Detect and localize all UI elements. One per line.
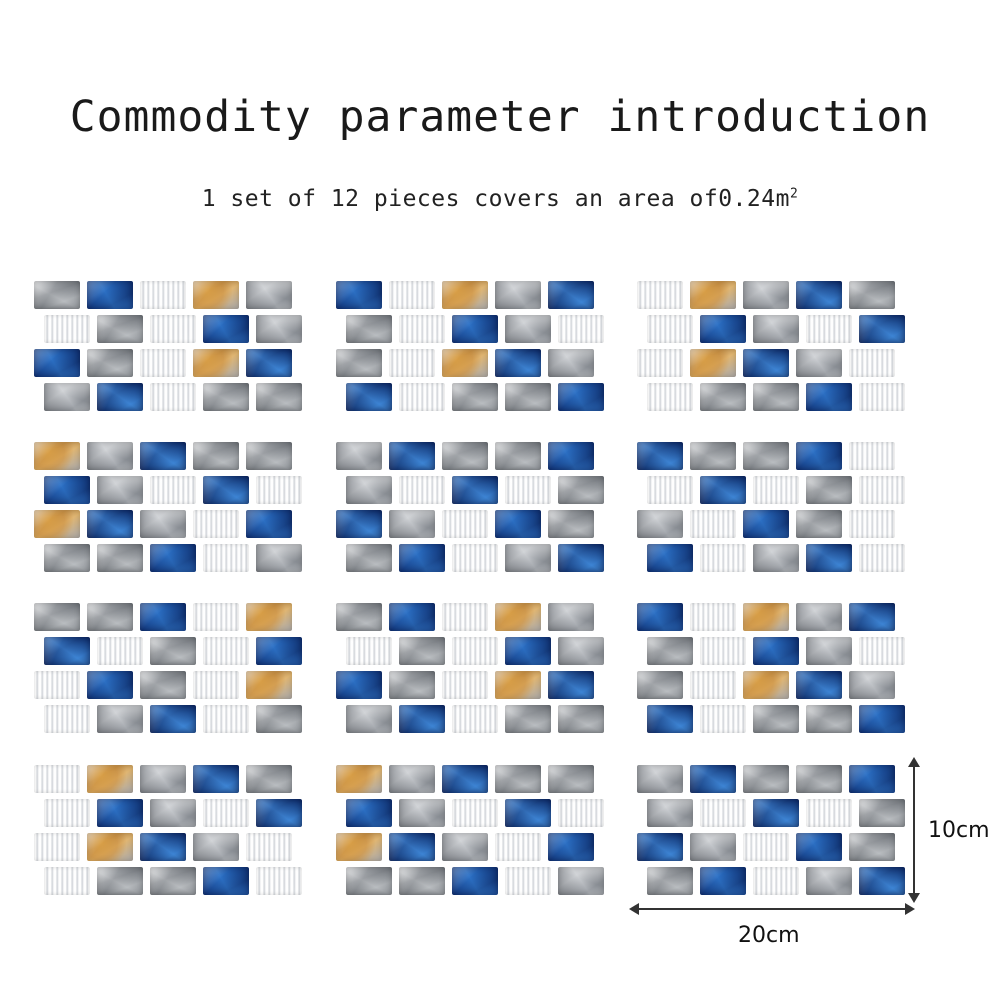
mosaic-tile <box>753 544 799 572</box>
mosaic-tile <box>203 544 249 572</box>
tile-sheet <box>336 281 596 411</box>
mosaic-tile <box>647 799 693 827</box>
mosaic-tile <box>246 671 292 699</box>
mosaic-tile <box>690 510 736 538</box>
mosaic-tile <box>34 510 80 538</box>
mosaic-tile <box>399 867 445 895</box>
mosaic-tile <box>548 442 594 470</box>
mosaic-tile <box>690 603 736 631</box>
width-arrow-right-icon <box>905 903 915 915</box>
mosaic-tile <box>796 765 842 793</box>
mosaic-tile <box>558 315 604 343</box>
mosaic-tile <box>558 544 604 572</box>
mosaic-tile <box>246 765 292 793</box>
mosaic-tile <box>203 315 249 343</box>
mosaic-tile <box>246 281 292 309</box>
mosaic-tile <box>796 833 842 861</box>
mosaic-tile <box>495 281 541 309</box>
mosaic-tile <box>495 349 541 377</box>
mosaic-tile <box>452 476 498 504</box>
mosaic-tile <box>647 383 693 411</box>
mosaic-tile <box>849 349 895 377</box>
mosaic-tile <box>637 603 683 631</box>
mosaic-tile <box>505 867 551 895</box>
mosaic-tile <box>796 281 842 309</box>
mosaic-tile <box>690 281 736 309</box>
mosaic-tile <box>87 281 133 309</box>
mosaic-tile <box>256 867 302 895</box>
mosaic-tile <box>97 383 143 411</box>
mosaic-tile <box>246 510 292 538</box>
mosaic-tile <box>203 799 249 827</box>
mosaic-tile <box>140 349 186 377</box>
mosaic-tile <box>796 349 842 377</box>
mosaic-tile <box>203 705 249 733</box>
mosaic-tile <box>743 281 789 309</box>
mosaic-tile <box>193 833 239 861</box>
mosaic-tile <box>849 442 895 470</box>
width-dimension-line <box>637 908 913 910</box>
mosaic-tile <box>859 799 905 827</box>
mosaic-tile <box>203 383 249 411</box>
mosaic-tile <box>647 315 693 343</box>
mosaic-tile <box>346 637 392 665</box>
mosaic-tile <box>637 833 683 861</box>
mosaic-tile <box>389 442 435 470</box>
mosaic-tile <box>806 867 852 895</box>
mosaic-tile <box>389 603 435 631</box>
mosaic-tile <box>859 476 905 504</box>
mosaic-tile <box>346 705 392 733</box>
mosaic-tile <box>452 637 498 665</box>
mosaic-tile <box>505 476 551 504</box>
mosaic-tile <box>97 799 143 827</box>
tile-sheet <box>34 442 294 572</box>
mosaic-tile <box>743 603 789 631</box>
mosaic-tile <box>442 603 488 631</box>
mosaic-tile <box>193 671 239 699</box>
mosaic-tile <box>452 544 498 572</box>
mosaic-tile <box>442 833 488 861</box>
mosaic-tile <box>548 671 594 699</box>
mosaic-tile <box>849 281 895 309</box>
mosaic-tile <box>256 637 302 665</box>
mosaic-tile <box>495 510 541 538</box>
mosaic-tile <box>495 603 541 631</box>
mosaic-tile <box>150 315 196 343</box>
mosaic-tile <box>849 833 895 861</box>
mosaic-tile <box>505 315 551 343</box>
mosaic-tile <box>87 765 133 793</box>
mosaic-tile <box>637 442 683 470</box>
mosaic-tile <box>336 281 382 309</box>
mosaic-tile <box>336 765 382 793</box>
tile-sheet <box>637 281 897 411</box>
tile-sheet <box>34 281 294 411</box>
mosaic-tile <box>806 315 852 343</box>
mosaic-tile <box>346 476 392 504</box>
mosaic-tile <box>389 833 435 861</box>
mosaic-tile <box>753 637 799 665</box>
tile-sheet <box>34 603 294 733</box>
mosaic-tile <box>346 799 392 827</box>
mosaic-tile <box>442 281 488 309</box>
mosaic-tile <box>140 603 186 631</box>
tile-sheet <box>336 603 596 733</box>
mosaic-tile <box>193 281 239 309</box>
mosaic-tile <box>97 705 143 733</box>
mosaic-tile <box>452 799 498 827</box>
mosaic-tile <box>700 544 746 572</box>
mosaic-tile <box>796 671 842 699</box>
mosaic-tile <box>753 867 799 895</box>
mosaic-tile <box>859 637 905 665</box>
mosaic-tile <box>452 383 498 411</box>
mosaic-tile <box>548 765 594 793</box>
mosaic-tile <box>806 544 852 572</box>
mosaic-tile <box>743 349 789 377</box>
mosaic-tile <box>44 637 90 665</box>
mosaic-tile <box>442 349 488 377</box>
mosaic-tile <box>87 603 133 631</box>
mosaic-tile <box>34 281 80 309</box>
height-dimension-label: 10cm <box>928 818 990 843</box>
tile-sheet <box>637 603 897 733</box>
mosaic-tile <box>753 315 799 343</box>
height-arrow-down-icon <box>908 893 920 903</box>
mosaic-tile <box>690 833 736 861</box>
mosaic-tile <box>389 349 435 377</box>
mosaic-tile <box>743 510 789 538</box>
mosaic-tile <box>505 383 551 411</box>
mosaic-tile <box>859 315 905 343</box>
mosaic-tile <box>193 442 239 470</box>
width-arrow-left-icon <box>629 903 639 915</box>
mosaic-tile <box>647 867 693 895</box>
height-arrow-up-icon <box>908 757 920 767</box>
mosaic-tile <box>548 833 594 861</box>
mosaic-tile <box>399 799 445 827</box>
tile-sheet <box>34 765 294 895</box>
mosaic-tile <box>690 442 736 470</box>
mosaic-tile <box>336 833 382 861</box>
mosaic-tile <box>700 383 746 411</box>
mosaic-tile <box>44 383 90 411</box>
mosaic-tile <box>505 544 551 572</box>
mosaic-tile <box>87 671 133 699</box>
mosaic-tile <box>150 867 196 895</box>
mosaic-tile <box>140 765 186 793</box>
mosaic-tile <box>87 349 133 377</box>
mosaic-tile <box>150 799 196 827</box>
mosaic-tile <box>150 705 196 733</box>
mosaic-tile <box>97 544 143 572</box>
mosaic-tile <box>700 476 746 504</box>
mosaic-tile <box>399 315 445 343</box>
mosaic-tile <box>743 671 789 699</box>
mosaic-tile <box>859 383 905 411</box>
mosaic-tile <box>442 442 488 470</box>
mosaic-tile <box>346 315 392 343</box>
mosaic-tile <box>743 765 789 793</box>
mosaic-tile <box>442 671 488 699</box>
mosaic-tile <box>389 510 435 538</box>
mosaic-tile <box>700 637 746 665</box>
mosaic-tile <box>150 383 196 411</box>
mosaic-tile <box>558 383 604 411</box>
mosaic-tile <box>637 765 683 793</box>
mosaic-tile <box>806 705 852 733</box>
mosaic-tile <box>753 476 799 504</box>
mosaic-tile <box>442 765 488 793</box>
mosaic-tile <box>256 799 302 827</box>
mosaic-tile <box>34 671 80 699</box>
mosaic-tile <box>246 349 292 377</box>
mosaic-tile <box>637 349 683 377</box>
width-dimension-label: 20cm <box>738 923 800 948</box>
mosaic-tile <box>203 867 249 895</box>
mosaic-tile <box>256 476 302 504</box>
height-dimension-line <box>913 765 915 895</box>
mosaic-tile <box>34 603 80 631</box>
mosaic-tile <box>399 705 445 733</box>
mosaic-tile <box>140 442 186 470</box>
mosaic-tile <box>859 867 905 895</box>
mosaic-tile <box>806 383 852 411</box>
mosaic-tile <box>34 349 80 377</box>
mosaic-tile <box>140 833 186 861</box>
mosaic-tile <box>389 671 435 699</box>
mosaic-tile <box>336 349 382 377</box>
mosaic-tile <box>399 476 445 504</box>
mosaic-tile <box>256 315 302 343</box>
mosaic-tile <box>246 442 292 470</box>
mosaic-tile <box>87 510 133 538</box>
mosaic-tile <box>558 867 604 895</box>
mosaic-tile <box>690 349 736 377</box>
mosaic-tile <box>548 349 594 377</box>
mosaic-tile <box>452 315 498 343</box>
mosaic-tile <box>44 476 90 504</box>
mosaic-tile <box>140 510 186 538</box>
mosaic-tile <box>806 476 852 504</box>
mosaic-tile <box>637 510 683 538</box>
mosaic-tile <box>495 442 541 470</box>
mosaic-tile <box>558 637 604 665</box>
tile-sheet-grid <box>0 0 1000 1000</box>
mosaic-tile <box>140 281 186 309</box>
mosaic-tile <box>495 671 541 699</box>
mosaic-tile <box>336 510 382 538</box>
mosaic-tile <box>647 705 693 733</box>
mosaic-tile <box>97 315 143 343</box>
mosaic-tile <box>796 442 842 470</box>
mosaic-tile <box>495 765 541 793</box>
mosaic-tile <box>203 637 249 665</box>
mosaic-tile <box>336 603 382 631</box>
mosaic-tile <box>548 603 594 631</box>
mosaic-tile <box>849 603 895 631</box>
mosaic-tile <box>97 476 143 504</box>
mosaic-tile <box>548 510 594 538</box>
mosaic-tile <box>690 671 736 699</box>
mosaic-tile <box>44 705 90 733</box>
mosaic-tile <box>150 476 196 504</box>
mosaic-tile <box>558 476 604 504</box>
mosaic-tile <box>753 383 799 411</box>
mosaic-tile <box>647 476 693 504</box>
mosaic-tile <box>399 383 445 411</box>
mosaic-tile <box>389 765 435 793</box>
mosaic-tile <box>637 281 683 309</box>
mosaic-tile <box>150 637 196 665</box>
mosaic-tile <box>558 799 604 827</box>
mosaic-tile <box>700 867 746 895</box>
mosaic-tile <box>97 867 143 895</box>
mosaic-tile <box>753 705 799 733</box>
mosaic-tile <box>399 637 445 665</box>
tile-sheet <box>336 765 596 895</box>
mosaic-tile <box>806 799 852 827</box>
mosaic-tile <box>753 799 799 827</box>
mosaic-tile <box>44 867 90 895</box>
mosaic-tile <box>44 544 90 572</box>
mosaic-tile <box>399 544 445 572</box>
mosaic-tile <box>495 833 541 861</box>
mosaic-tile <box>389 281 435 309</box>
tile-sheet <box>637 765 897 895</box>
mosaic-tile <box>558 705 604 733</box>
mosaic-tile <box>346 867 392 895</box>
mosaic-tile <box>346 383 392 411</box>
mosaic-tile <box>796 603 842 631</box>
mosaic-tile <box>796 510 842 538</box>
mosaic-tile <box>700 705 746 733</box>
mosaic-tile <box>203 476 249 504</box>
mosaic-tile <box>647 637 693 665</box>
mosaic-tile <box>256 383 302 411</box>
mosaic-tile <box>140 671 186 699</box>
mosaic-tile <box>743 442 789 470</box>
mosaic-tile <box>806 637 852 665</box>
mosaic-tile <box>34 765 80 793</box>
mosaic-tile <box>44 799 90 827</box>
mosaic-tile <box>256 705 302 733</box>
mosaic-tile <box>690 765 736 793</box>
mosaic-tile <box>849 510 895 538</box>
mosaic-tile <box>150 544 196 572</box>
mosaic-tile <box>743 833 789 861</box>
mosaic-tile <box>647 544 693 572</box>
mosaic-tile <box>34 833 80 861</box>
mosaic-tile <box>87 442 133 470</box>
mosaic-tile <box>700 799 746 827</box>
mosaic-tile <box>336 442 382 470</box>
mosaic-tile <box>452 867 498 895</box>
mosaic-tile <box>442 510 488 538</box>
mosaic-tile <box>637 671 683 699</box>
mosaic-tile <box>452 705 498 733</box>
mosaic-tile <box>34 442 80 470</box>
mosaic-tile <box>246 603 292 631</box>
mosaic-tile <box>505 705 551 733</box>
mosaic-tile <box>193 510 239 538</box>
mosaic-tile <box>246 833 292 861</box>
mosaic-tile <box>346 544 392 572</box>
mosaic-tile <box>193 349 239 377</box>
mosaic-tile <box>336 671 382 699</box>
mosaic-tile <box>193 765 239 793</box>
mosaic-tile <box>193 603 239 631</box>
mosaic-tile <box>97 637 143 665</box>
tile-sheet <box>336 442 596 572</box>
tile-sheet <box>637 442 897 572</box>
mosaic-tile <box>256 544 302 572</box>
mosaic-tile <box>859 544 905 572</box>
mosaic-tile <box>505 637 551 665</box>
mosaic-tile <box>44 315 90 343</box>
mosaic-tile <box>505 799 551 827</box>
mosaic-tile <box>700 315 746 343</box>
mosaic-tile <box>87 833 133 861</box>
mosaic-tile <box>859 705 905 733</box>
mosaic-tile <box>849 671 895 699</box>
mosaic-tile <box>849 765 895 793</box>
mosaic-tile <box>548 281 594 309</box>
